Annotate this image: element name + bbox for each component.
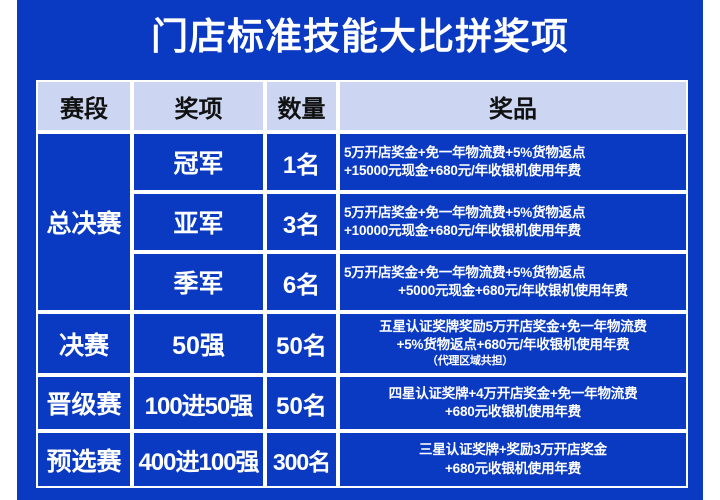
cell-award-400to100: 400进100强 xyxy=(132,431,265,488)
cell-count-runnerup: 3名 xyxy=(265,192,338,252)
table-row: 亚军 3名 5万开店奖金+免一年物流费+5%货物返点 +10000元现金+680… xyxy=(36,192,688,252)
cell-count-thirdplace: 6名 xyxy=(265,252,338,312)
table-row: 季军 6名 5万开店奖金+免一年物流费+5%货物返点 +5000元现金+680元… xyxy=(36,252,688,312)
table-body: 总决赛 冠军 1名 5万开店奖金+免一年物流费+5%货物返点 +15000元现金… xyxy=(36,132,688,488)
cell-stage-finals: 决赛 xyxy=(36,312,132,375)
cell-prize-400to100: 三星认证奖牌+奖励3万开店奖金 +680元收银机使用年费 xyxy=(338,431,688,488)
prize-line: 四星认证奖牌+4万开店奖金+免一年物流费 xyxy=(340,385,686,403)
column-header-count: 数量 xyxy=(265,80,338,132)
cell-prize-runnerup: 5万开店奖金+免一年物流费+5%货物返点 +10000元现金+680元/年收银机… xyxy=(338,192,688,252)
prize-line: +680元收银机使用年费 xyxy=(340,460,686,478)
cell-count-champion: 1名 xyxy=(265,132,338,192)
cell-award-100to50: 100进50强 xyxy=(132,375,265,431)
table-row: 决赛 50强 50名 五星认证奖牌奖励5万开店奖金+免一年物流费 +5%货物返点… xyxy=(36,312,688,375)
prize-line: 5万开店奖金+免一年物流费+5%货物返点 xyxy=(340,264,686,282)
table-row: 晋级赛 100进50强 50名 四星认证奖牌+4万开店奖金+免一年物流费 +68… xyxy=(36,375,688,431)
prize-line: +5000元现金+680元/年收银机使用年费 xyxy=(340,282,686,300)
cell-count-top50: 50名 xyxy=(265,312,338,375)
table-header-row: 赛段 奖项 数量 奖品 xyxy=(36,80,688,132)
prize-line: +680元收银机使用年费 xyxy=(340,403,686,421)
cell-award-runnerup: 亚军 xyxy=(132,192,265,252)
cell-count-100to50: 50名 xyxy=(265,375,338,431)
cell-prize-champion: 5万开店奖金+免一年物流费+5%货物返点 +15000元现金+680元/年收银机… xyxy=(338,132,688,192)
cell-prize-100to50: 四星认证奖牌+4万开店奖金+免一年物流费 +680元收银机使用年费 xyxy=(338,375,688,431)
cell-count-400to100: 300名 xyxy=(265,431,338,488)
cell-award-thirdplace: 季军 xyxy=(132,252,265,312)
cell-prize-thirdplace: 5万开店奖金+免一年物流费+5%货物返点 +5000元现金+680元/年收银机使… xyxy=(338,252,688,312)
award-table: 赛段 奖项 数量 奖品 总决赛 冠军 1名 5万开店奖金+免一年物流费+5%货物… xyxy=(36,80,688,488)
page-title: 门店标准技能大比拼奖项 xyxy=(17,0,703,55)
cell-award-champion: 冠军 xyxy=(132,132,265,192)
prize-line: +15000元现金+680元/年收银机使用年费 xyxy=(340,162,686,180)
cell-stage-final: 总决赛 xyxy=(36,132,132,312)
column-header-prize: 奖品 xyxy=(338,80,688,132)
poster-background: 门店标准技能大比拼奖项 赛段 奖项 数量 奖品 总决赛 冠军 1名 5万开店奖金… xyxy=(17,0,703,500)
prize-line: 五星认证奖牌奖励5万开店奖金+免一年物流费 xyxy=(340,318,686,336)
prize-line: 5万开店奖金+免一年物流费+5%货物返点 xyxy=(340,144,686,162)
cell-stage-advance: 晋级赛 xyxy=(36,375,132,431)
prize-line: 三星认证奖牌+奖励3万开店奖金 xyxy=(340,441,686,459)
table-header: 赛段 奖项 数量 奖品 xyxy=(36,80,688,132)
column-header-award: 奖项 xyxy=(132,80,265,132)
cell-prize-top50: 五星认证奖牌奖励5万开店奖金+免一年物流费 +5%货物返点+680元/年收银机使… xyxy=(338,312,688,375)
table-row: 总决赛 冠军 1名 5万开店奖金+免一年物流费+5%货物返点 +15000元现金… xyxy=(36,132,688,192)
table-row: 预选赛 400进100强 300名 三星认证奖牌+奖励3万开店奖金 +680元收… xyxy=(36,431,688,488)
prize-note: （代理区域共担） xyxy=(340,354,686,369)
cell-stage-prelim: 预选赛 xyxy=(36,431,132,488)
prize-line: +10000元现金+680元/年收银机使用年费 xyxy=(340,222,686,240)
column-header-stage: 赛段 xyxy=(36,80,132,132)
prize-line: 5万开店奖金+免一年物流费+5%货物返点 xyxy=(340,204,686,222)
cell-award-top50: 50强 xyxy=(132,312,265,375)
award-table-container: 赛段 奖项 数量 奖品 总决赛 冠军 1名 5万开店奖金+免一年物流费+5%货物… xyxy=(36,80,688,485)
prize-line: +5%货物返点+680元/年收银机使用年费 xyxy=(340,336,686,354)
